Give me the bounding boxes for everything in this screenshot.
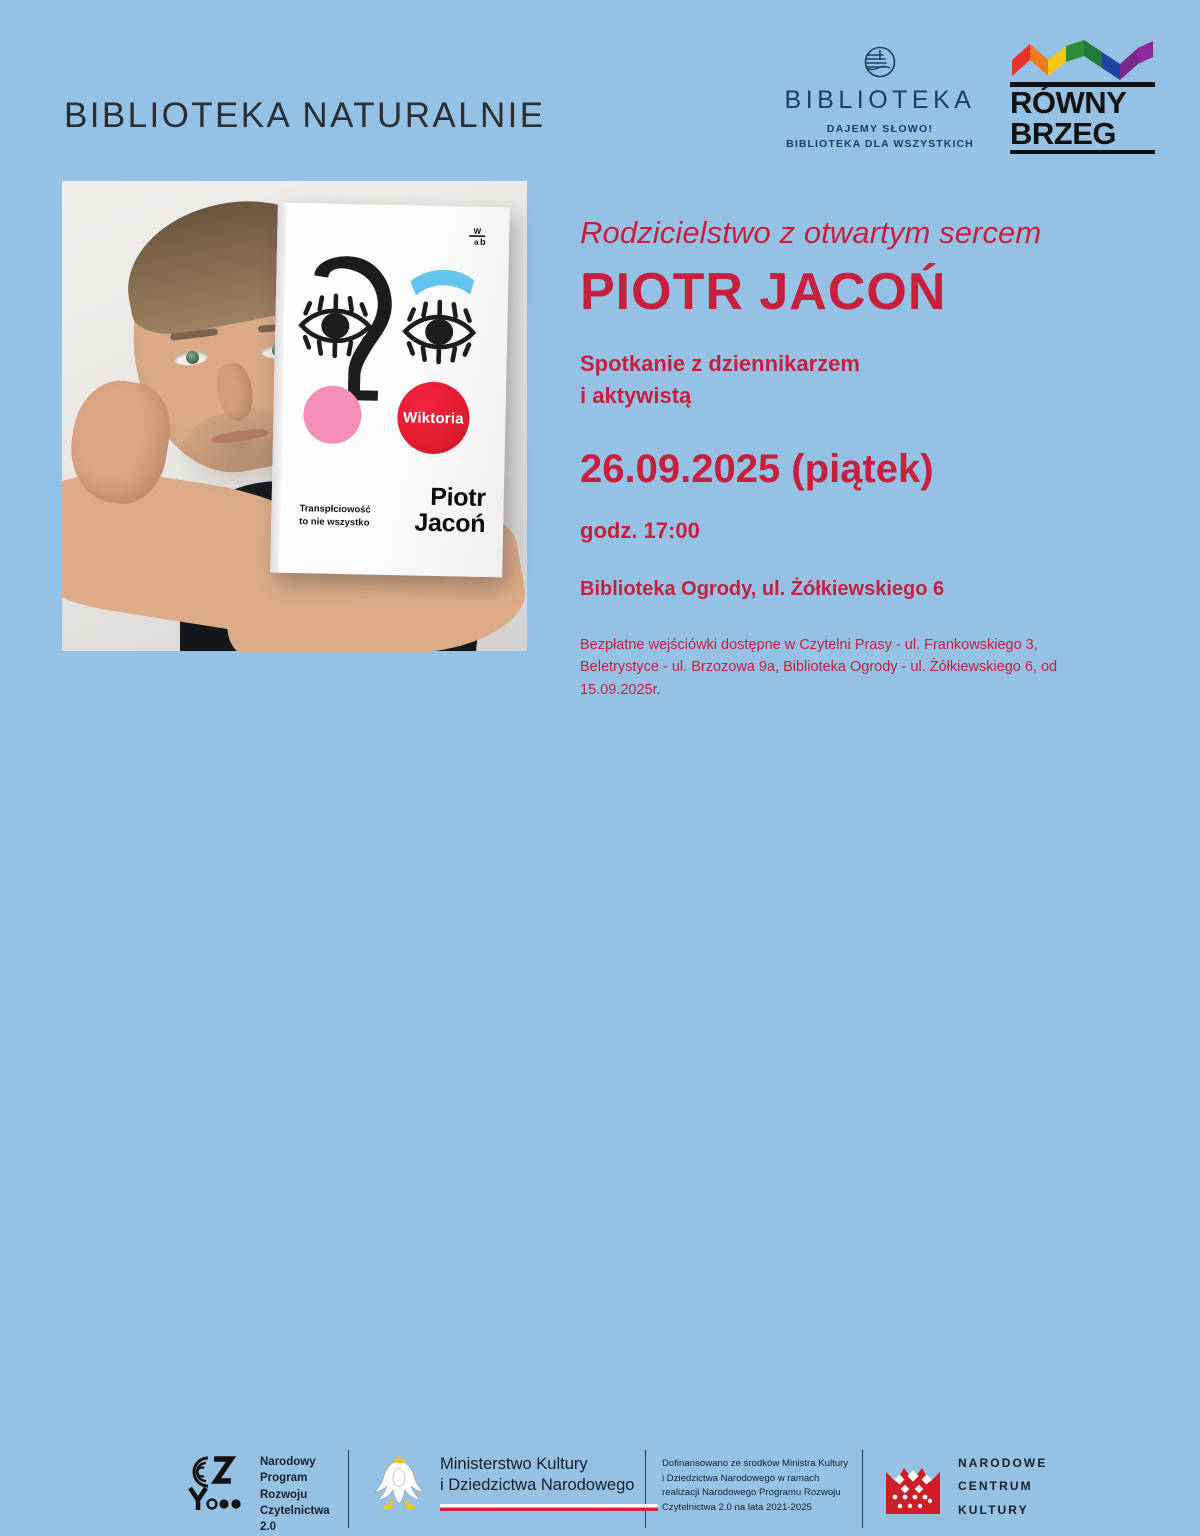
- book-red-circle: Wiktoria: [397, 381, 470, 454]
- nprcz-line2: Program: [260, 1470, 330, 1486]
- biblioteka-tagline-2: BIBLIOTEKA DLA WSZYSTKICH: [770, 138, 990, 150]
- event-date: 26.09.2025 (piątek): [580, 447, 934, 492]
- biblioteka-wordmark: BIBLIOTEKA: [770, 86, 990, 115]
- nprcz-line1: Narodowy: [260, 1454, 330, 1470]
- book-subtitle-line2: to nie wszystko: [299, 516, 371, 530]
- ministry-line2: i Dziedzictwa Narodowego: [440, 1475, 658, 1496]
- ministry-logo: Ministerstwo Kultury i Dziedzictwa Narod…: [372, 1454, 658, 1512]
- biblioteka-tagline-1: DAJEMY SŁOWO!: [770, 123, 990, 135]
- event-time: godz. 17:00: [580, 518, 700, 544]
- ministry-line1: Ministerstwo Kultury: [440, 1454, 658, 1475]
- nprcz-text: Narodowy Program Rozwoju Czytelnictwa 2.…: [260, 1454, 330, 1536]
- czy-dots-icon: [186, 1454, 248, 1512]
- nck-logo: NARODOWE CENTRUM KULTURY: [884, 1452, 1047, 1522]
- nck-crown-icon: [884, 1458, 942, 1516]
- book-cover: W a b Wikt: [270, 203, 510, 578]
- rainbow-wave-icon: [1010, 38, 1155, 80]
- footer-logo-strip: Narodowy Program Rozwoju Czytelnictwa 2.…: [0, 716, 1200, 826]
- footer-divider-3: [862, 1450, 863, 1528]
- nprcz-line3: Rozwoju: [260, 1487, 330, 1503]
- rowny-brzeg-line1: RÓWNY: [1010, 89, 1155, 118]
- poster-canvas: BIBLIOTEKA NATURALNIE BIBLIOTEKA DAJEMY …: [0, 0, 1200, 849]
- circle-waves-icon: [770, 42, 990, 82]
- footer-divider-1: [348, 1450, 349, 1528]
- nck-line2: CENTRUM: [958, 1475, 1047, 1498]
- ministry-name: Ministerstwo Kultury i Dziedzictwa Narod…: [440, 1454, 658, 1497]
- book-subtitle: Transpłciowość to nie wszystko: [299, 503, 371, 530]
- photo-iris-left: [186, 351, 199, 364]
- nck-line1: NARODOWE: [958, 1452, 1047, 1475]
- polish-flag-bar: [440, 1504, 658, 1511]
- event-role-line1: Spotkanie z dziennikarzem: [580, 348, 860, 380]
- page-title: BIBLIOTEKA NATURALNIE: [64, 96, 546, 136]
- nck-text: NARODOWE CENTRUM KULTURY: [958, 1452, 1047, 1522]
- event-role: Spotkanie z dziennikarzem i aktywistą: [580, 348, 860, 412]
- polish-eagle-icon: [372, 1454, 426, 1512]
- nck-line3: KULTURY: [958, 1499, 1047, 1522]
- book-subtitle-line1: Transpłciowość: [299, 503, 371, 517]
- funding-note: Dofinansowano ze środków Ministra Kultur…: [662, 1457, 852, 1515]
- rowny-brzeg-line2: BRZEG: [1010, 120, 1155, 149]
- rowny-brzeg-logo: RÓWNY BRZEG: [1010, 38, 1155, 154]
- book-author-line1: Piotr: [415, 484, 486, 512]
- event-guest-name: PIOTR JACOŃ: [580, 262, 946, 322]
- event-role-line2: i aktywistą: [580, 380, 860, 412]
- nprcz-logo: Narodowy Program Rozwoju Czytelnictwa 2.…: [186, 1454, 330, 1536]
- rowny-brzeg-rule-bottom: [1010, 150, 1155, 154]
- event-place: Biblioteka Ogrody, ul. Żółkiewskiego 6: [580, 578, 944, 601]
- event-note: Bezpłatne wejściówki dostępne w Czytelni…: [580, 634, 1120, 701]
- event-title: Rodzicielstwo z otwartym sercem: [580, 215, 1041, 251]
- nprcz-line5: 2.0: [260, 1519, 330, 1535]
- nprcz-line4: Czytelnictwa: [260, 1503, 330, 1519]
- biblioteka-logo: BIBLIOTEKA DAJEMY SŁOWO! BIBLIOTEKA DLA …: [770, 42, 990, 150]
- book-author-line2: Jacoń: [414, 510, 485, 538]
- book-circle-label: Wiktoria: [397, 381, 470, 454]
- book-author: Piotr Jacoń: [414, 484, 486, 538]
